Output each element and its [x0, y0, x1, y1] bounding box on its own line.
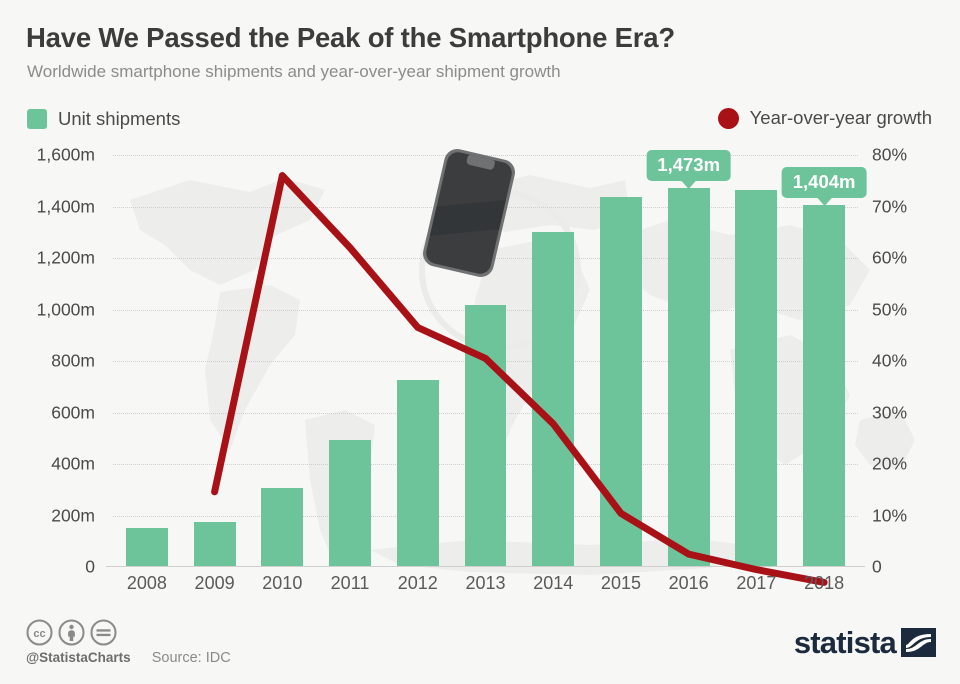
y-axis-left-tick: 400m	[51, 454, 95, 475]
statista-logo-icon	[901, 626, 936, 659]
y-axis-right-tick: 70%	[872, 196, 907, 217]
square-swatch-icon	[27, 109, 47, 129]
source-label: Source: IDC	[152, 650, 231, 666]
cc-nd-equals-icon	[90, 619, 117, 646]
data-label-2016: 1,473m	[646, 150, 731, 181]
x-axis-label-2016: 2016	[669, 573, 709, 594]
y-axis-left-tick: 1,200m	[37, 248, 95, 269]
cc-icon: cc	[26, 619, 53, 646]
line-series-yoy-growth	[113, 155, 858, 580]
x-axis-label-2010: 2010	[262, 573, 302, 594]
y-axis-right-tick: 60%	[872, 248, 907, 269]
x-axis-label-2011: 2011	[331, 573, 370, 594]
yoy-growth-line	[215, 176, 825, 583]
y-axis-right-tick: 20%	[872, 454, 907, 475]
legend-unit-shipments: Unit shipments	[27, 108, 180, 130]
statista-handle: @StatistaCharts	[26, 650, 131, 665]
circle-swatch-icon	[718, 108, 739, 129]
y-axis-right-tick: 50%	[872, 299, 907, 320]
x-axis-labels: 2008200920102011201220132014201520162017…	[113, 573, 858, 607]
x-axis-label-2014: 2014	[533, 573, 573, 594]
creative-commons-icons: cc	[26, 619, 231, 646]
x-axis-label-2015: 2015	[601, 573, 641, 594]
y-axis-left-tick: 0	[85, 557, 95, 578]
footer-texts: @StatistaCharts Source: IDC	[26, 650, 231, 666]
y-axis-left-tick: 600m	[51, 402, 95, 423]
legend-label-unit-shipments: Unit shipments	[58, 108, 180, 130]
y-axis-left-tick: 800m	[51, 351, 95, 372]
svg-text:cc: cc	[33, 628, 45, 640]
legend-label-yoy-growth: Year-over-year growth	[750, 107, 932, 129]
y-axis-right: 010%20%30%40%50%60%70%80%	[866, 140, 960, 570]
y-axis-left-tick: 1,400m	[37, 196, 95, 217]
footer-left: cc @StatistaCharts Source: IDC	[26, 619, 231, 666]
y-axis-left-tick: 1,600m	[37, 145, 95, 166]
data-label-2018: 1,404m	[782, 167, 867, 198]
statista-brand: statista	[794, 626, 936, 659]
x-axis-label-2008: 2008	[127, 573, 167, 594]
y-axis-left-tick: 200m	[51, 505, 95, 526]
x-axis-label-2013: 2013	[465, 573, 505, 594]
y-axis-right-tick: 30%	[872, 402, 907, 423]
x-axis-label-2009: 2009	[195, 573, 235, 594]
x-axis-label-2012: 2012	[398, 573, 438, 594]
legend-yoy-growth: Year-over-year growth	[718, 107, 932, 129]
y-axis-right-tick: 40%	[872, 351, 907, 372]
x-axis-label-2018: 2018	[804, 573, 844, 594]
statista-wordmark: statista	[794, 627, 896, 658]
infographic-root: Have We Passed the Peak of the Smartphon…	[0, 0, 960, 684]
y-axis-right-tick: 80%	[872, 145, 907, 166]
cc-by-person-icon	[58, 619, 85, 646]
page-subtitle: Worldwide smartphone shipments and year-…	[27, 62, 561, 82]
y-axis-left: 0200m400m600m800m1,000m1,200m1,400m1,600…	[0, 140, 104, 570]
y-axis-right-tick: 0	[872, 557, 882, 578]
x-axis-label-2017: 2017	[736, 573, 776, 594]
page-title: Have We Passed the Peak of the Smartphon…	[26, 22, 675, 54]
y-axis-left-tick: 1,000m	[37, 299, 95, 320]
y-axis-right-tick: 10%	[872, 505, 907, 526]
